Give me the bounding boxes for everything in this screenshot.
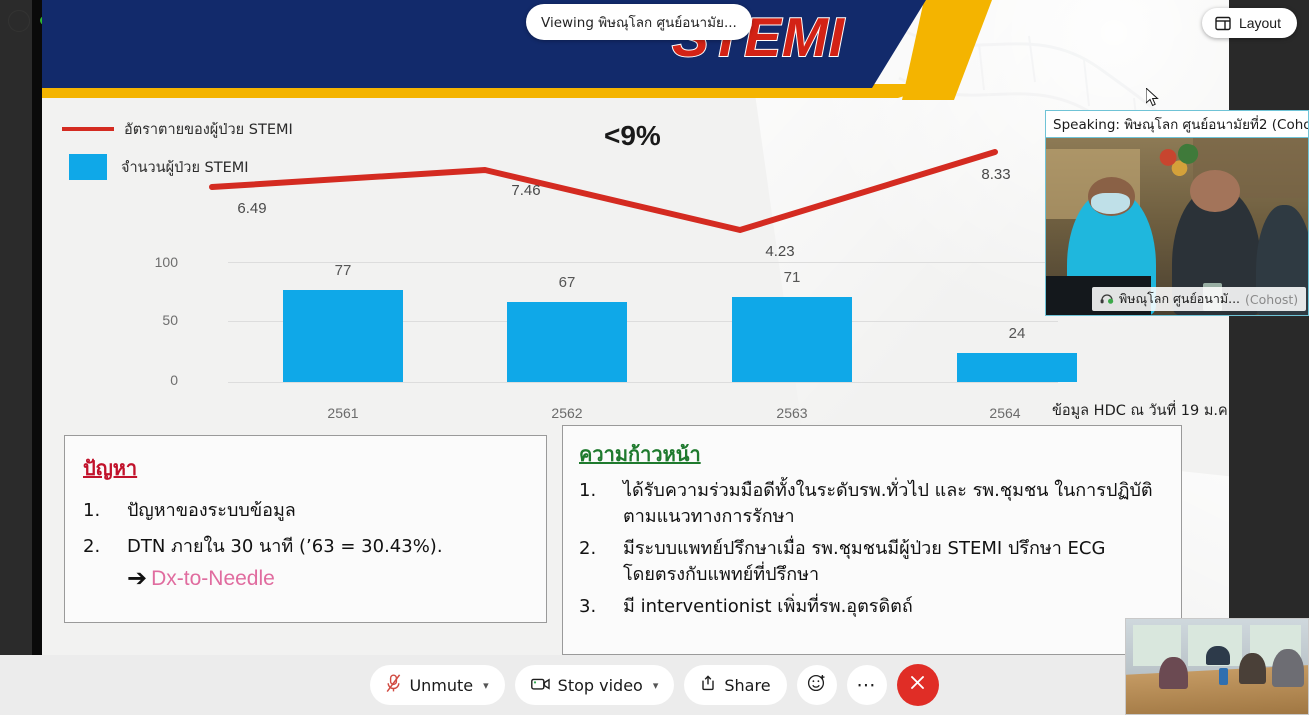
share-up-icon <box>700 675 716 695</box>
dx-to-needle-label: Dx-to-Needle <box>151 567 275 591</box>
chart-source-note: ข้อมูล HDC ณ วันที่ 19 ม.ค. 64 <box>1052 399 1229 422</box>
x-axis-tick-2562: 2562 <box>507 405 627 421</box>
leave-meeting-button[interactable] <box>897 664 939 706</box>
list-number: 3. <box>579 594 623 620</box>
layout-button-label: Layout <box>1239 15 1281 31</box>
line-value-2563: 4.23 <box>740 243 820 260</box>
close-x-icon <box>909 674 926 696</box>
line-value-2561: 6.49 <box>212 200 292 217</box>
participant-figure <box>1272 649 1305 687</box>
progress-box-title: ความก้าวหน้า <box>579 438 1165 470</box>
active-speaker-panel[interactable]: Speaking: พิษณุโลก ศูนย์อนามัยที่2 (Coho… <box>1045 110 1309 316</box>
arrow-right-icon: ➔ <box>127 564 147 593</box>
active-speaker-video[interactable]: พิษณุโลก ศูนย์อนามั... (Cohost) <box>1045 138 1309 316</box>
black-rail <box>32 0 42 660</box>
stop-video-button-label: Stop video <box>558 676 643 695</box>
water-bottle <box>1219 668 1228 685</box>
layout-button[interactable]: Layout <box>1202 8 1297 38</box>
progress-box: ความก้าวหน้า 1. ได้รับความร่วมมือดีทั้งใ… <box>562 425 1182 655</box>
zoom-meeting-window: ลดแออัด ลดรอคอย ลดป่วย ลดตาย STEMI อัตรา… <box>0 0 1309 715</box>
list-text: มี interventionist เพิ่มที่รพ.อุตรดิตถ์ <box>623 594 1165 620</box>
x-axis-tick-2564: 2564 <box>945 405 1065 421</box>
participant-figure <box>1159 657 1188 689</box>
microphone-muted-icon <box>386 674 401 697</box>
speaking-indicator-bar: Speaking: พิษณุโลก ศูนย์อนามัยที่2 (Coho… <box>1045 110 1309 138</box>
list-number: 1. <box>83 498 127 524</box>
meeting-toolbar: Unmute ▾ Stop video ▾ Sh <box>0 655 1309 715</box>
laptop-screen <box>1206 646 1230 665</box>
chevron-down-icon[interactable]: ▾ <box>483 679 489 692</box>
list-text: DTN ภายใน 30 นาที (’63 = 30.43%). <box>127 534 528 560</box>
x-axis-tick-2561: 2561 <box>283 405 403 421</box>
line-value-2562: 7.46 <box>486 182 566 199</box>
speaker-role-label: (Cohost) <box>1245 292 1298 307</box>
list-number: 2. <box>83 534 127 560</box>
chevron-down-icon[interactable]: ▾ <box>653 679 659 692</box>
share-button-label: Share <box>724 676 770 695</box>
unmute-button-label: Unmute <box>409 676 473 695</box>
dx-to-needle-row: ➔ Dx-to-Needle <box>83 564 528 593</box>
more-options-button[interactable]: ⋯ <box>847 665 887 705</box>
progress-list-item: 3. มี interventionist เพิ่มที่รพ.อุตรดิต… <box>579 594 1165 620</box>
presentation-slide: ลดแออัด ลดรอคอย ลดป่วย ลดตาย STEMI อัตรา… <box>42 0 1229 655</box>
headphone-icon <box>1100 292 1114 307</box>
x-axis-tick-2563: 2563 <box>732 405 852 421</box>
shared-screen-stage: ลดแออัด ลดรอคอย ลดป่วย ลดตาย STEMI อัตรา… <box>0 0 1309 660</box>
list-text: ปัญหาของระบบข้อมูล <box>127 498 528 524</box>
reactions-button[interactable] <box>797 665 837 705</box>
left-gutter <box>0 0 32 660</box>
status-ring <box>8 10 30 32</box>
self-view-thumbnail[interactable] <box>1125 618 1309 715</box>
problems-list-item: 2. DTN ภายใน 30 นาที (’63 = 30.43%). <box>83 534 528 560</box>
ellipsis-icon: ⋯ <box>857 676 877 695</box>
stop-video-button[interactable]: Stop video ▾ <box>515 665 675 705</box>
smiley-plus-icon <box>807 673 827 698</box>
list-number: 2. <box>579 536 623 588</box>
progress-list-item: 2. มีระบบแพทย์ปรึกษาเมื่อ รพ.ชุมชนมีผู้ป… <box>579 536 1165 588</box>
layout-icon <box>1215 16 1231 31</box>
list-text: มีระบบแพทย์ปรึกษาเมื่อ รพ.ชุมชนมีผู้ป่วย… <box>623 536 1165 588</box>
speaking-label: Speaking: พิษณุโลก ศูนย์อนามัยที่2 (Coho… <box>1053 113 1309 135</box>
progress-list-item: 1. ได้รับความร่วมมือดีทั้งในระดับรพ.ทั่ว… <box>579 478 1165 530</box>
problems-box-title: ปัญหา <box>83 452 528 484</box>
camera-icon <box>531 676 550 695</box>
problems-list-item: 1. ปัญหาของระบบข้อมูล <box>83 498 528 524</box>
speaker-name-overlay: พิษณุโลก ศูนย์อนามั... (Cohost) <box>1092 287 1306 311</box>
viewing-indicator: Viewing พิษณุโลก ศูนย์อนามัย... <box>526 4 752 40</box>
unmute-button[interactable]: Unmute ▾ <box>370 665 504 705</box>
list-text: ได้รับความร่วมมือดีทั้งในระดับรพ.ทั่วไป … <box>623 478 1165 530</box>
share-button[interactable]: Share <box>684 665 786 705</box>
face-mask <box>1091 193 1130 214</box>
speaker-name-label: พิษณุโลก ศูนย์อนามั... <box>1119 289 1240 309</box>
participant-head <box>1190 170 1240 212</box>
problems-box: ปัญหา 1. ปัญหาของระบบข้อมูล 2. DTN ภายใน… <box>64 435 547 623</box>
list-number: 1. <box>579 478 623 530</box>
mouse-cursor <box>1146 88 1160 108</box>
line-value-2564: 8.33 <box>956 166 1036 183</box>
participant-figure <box>1239 653 1266 683</box>
